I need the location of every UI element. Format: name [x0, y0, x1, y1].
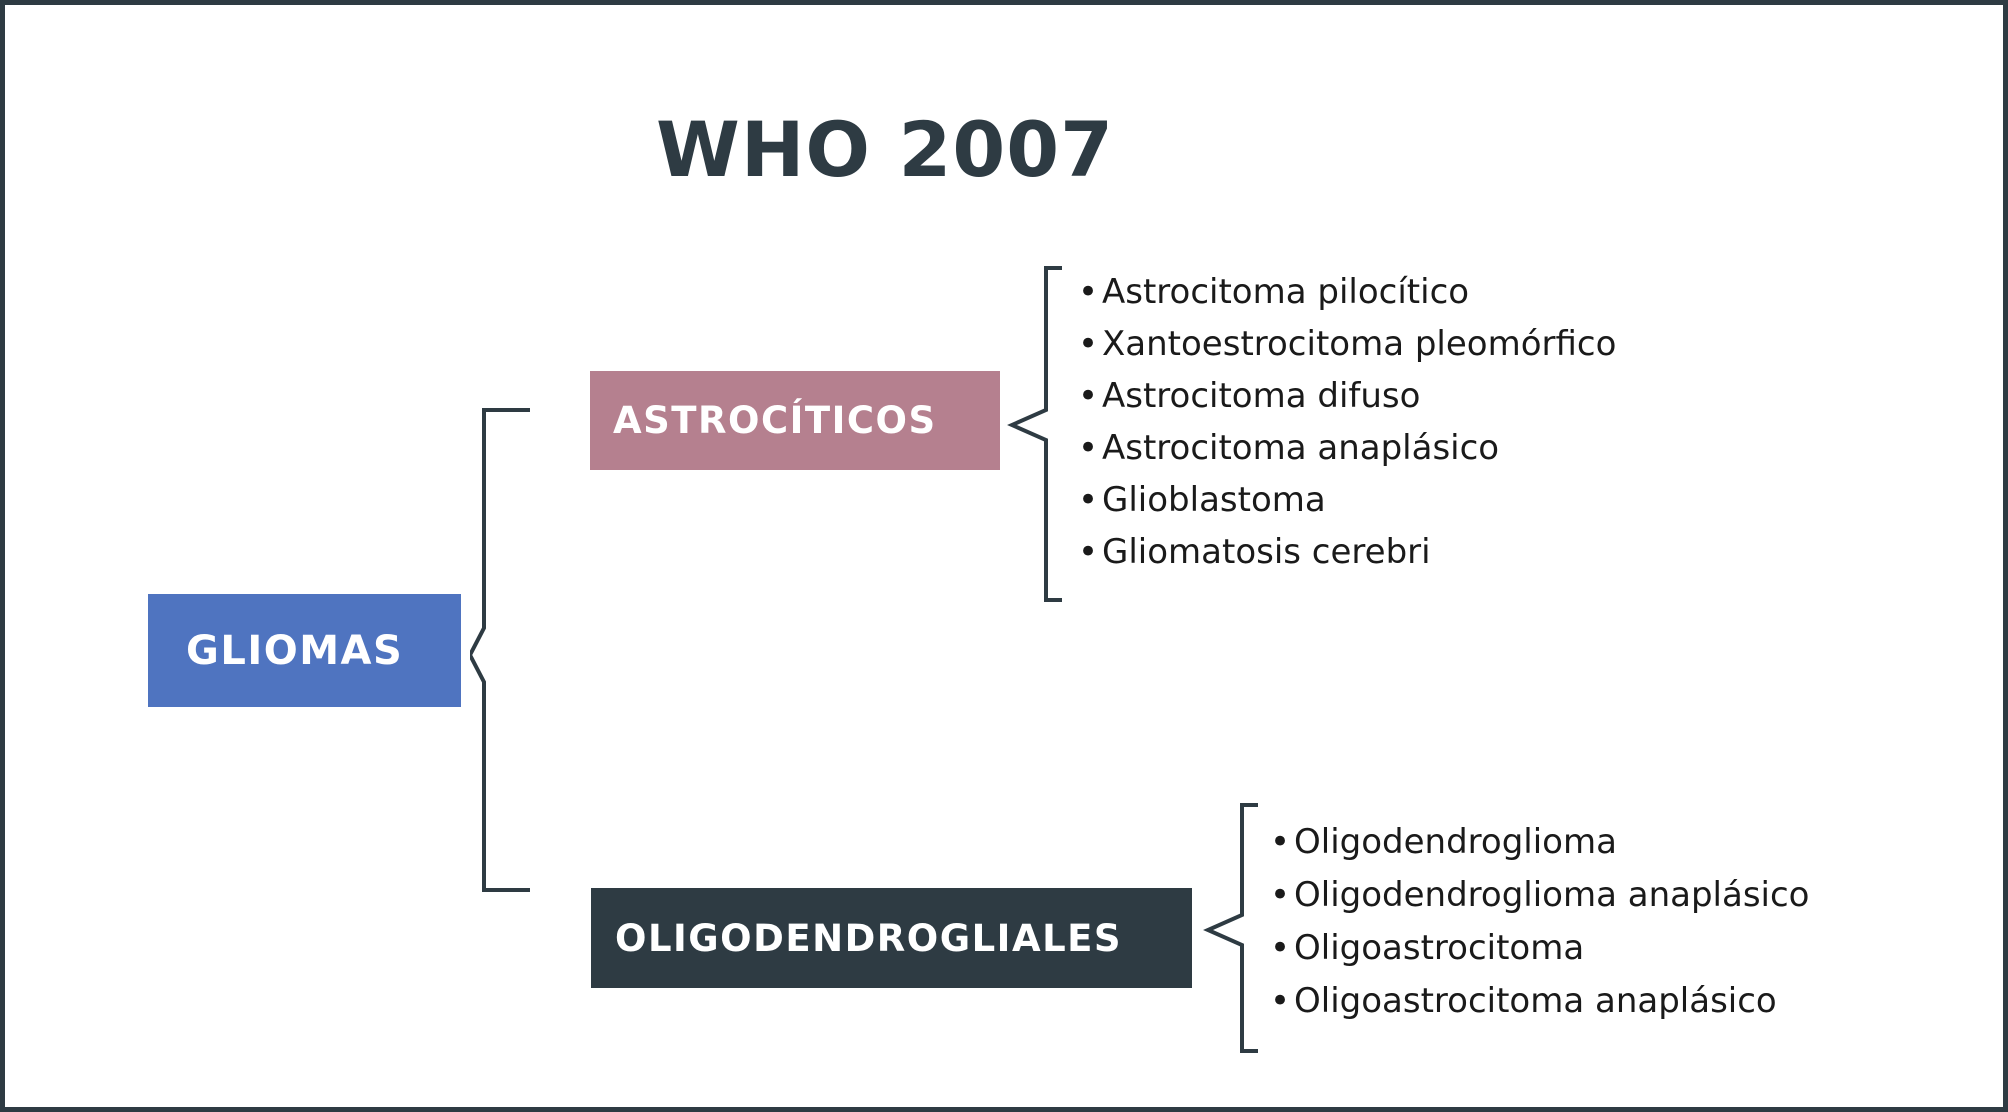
page-title: WHO 2007 — [0, 112, 1770, 188]
node-astrociticos[interactable]: ASTROCÍTICOS — [590, 371, 1000, 470]
list-item: • Astrocitoma pilocítico — [1078, 275, 1616, 327]
astrocytic-item-list: • Astrocitoma pilocítico • Xantoestrocit… — [1078, 275, 1616, 587]
bullet-icon: • — [1078, 327, 1102, 361]
list-item-label: Glioblastoma — [1102, 483, 1326, 519]
astrocytic-bracket-connector — [1002, 258, 1062, 622]
list-item-label: Astrocitoma anaplásico — [1102, 431, 1499, 467]
list-item: • Astrocitoma anaplásico — [1078, 431, 1616, 483]
bullet-icon: • — [1270, 931, 1294, 965]
list-item: • Oligodendroglioma — [1270, 825, 1809, 878]
list-item-label: Oligoastrocitoma — [1294, 931, 1584, 967]
list-item-label: Gliomatosis cerebri — [1102, 535, 1431, 571]
list-item: • Gliomatosis cerebri — [1078, 535, 1616, 587]
bullet-icon: • — [1078, 275, 1102, 309]
node-gliomas-label: GLIOMAS — [186, 628, 403, 674]
bullet-icon: • — [1270, 825, 1294, 859]
bullet-icon: • — [1078, 431, 1102, 465]
node-oligodendrogliales-label: OLIGODENDROGLIALES — [615, 917, 1122, 960]
bullet-icon: • — [1270, 984, 1294, 1018]
root-bracket-connector — [470, 400, 530, 904]
bullet-icon: • — [1078, 535, 1102, 569]
diagram-canvas: WHO 2007 GLIOMAS ASTROCÍTICOS OLIGODENDR… — [0, 0, 2008, 1112]
list-item-label: Oligodendroglioma — [1294, 825, 1617, 861]
node-gliomas[interactable]: GLIOMAS — [148, 594, 461, 707]
bullet-icon: • — [1078, 379, 1102, 413]
list-item: • Astrocitoma difuso — [1078, 379, 1616, 431]
oligodendroglial-item-list: • Oligodendroglioma • Oligodendroglioma … — [1270, 825, 1809, 1037]
list-item-label: Oligodendroglioma anaplásico — [1294, 878, 1809, 914]
bullet-icon: • — [1270, 878, 1294, 912]
oligodendroglial-bracket-connector — [1198, 795, 1258, 1069]
list-item: • Glioblastoma — [1078, 483, 1616, 535]
node-oligodendrogliales[interactable]: OLIGODENDROGLIALES — [591, 888, 1192, 988]
list-item: • Oligoastrocitoma anaplásico — [1270, 984, 1809, 1037]
list-item-label: Oligoastrocitoma anaplásico — [1294, 984, 1777, 1020]
node-astrociticos-label: ASTROCÍTICOS — [613, 399, 937, 442]
bullet-icon: • — [1078, 483, 1102, 517]
list-item: • Xantoestrocitoma pleomórfico — [1078, 327, 1616, 379]
list-item: • Oligodendroglioma anaplásico — [1270, 878, 1809, 931]
list-item-label: Astrocitoma pilocítico — [1102, 275, 1469, 311]
list-item: • Oligoastrocitoma — [1270, 931, 1809, 984]
list-item-label: Astrocitoma difuso — [1102, 379, 1420, 415]
list-item-label: Xantoestrocitoma pleomórfico — [1102, 327, 1616, 363]
